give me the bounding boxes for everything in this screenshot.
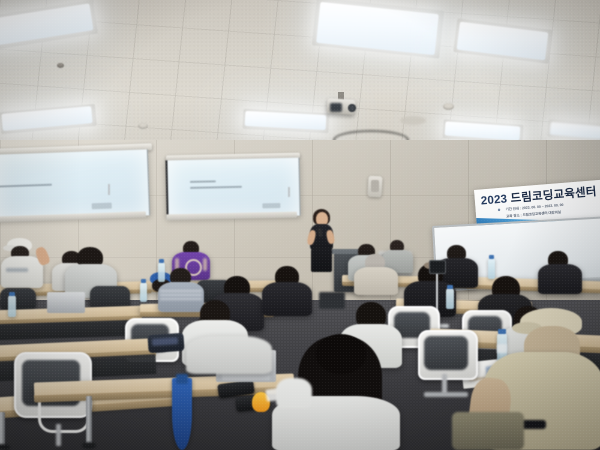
- bottle-cap: [498, 329, 506, 334]
- slide-logo: [92, 203, 112, 210]
- slide-text-line: [190, 180, 216, 183]
- water-bottle: [158, 262, 165, 282]
- shirt-stripes: [160, 288, 202, 300]
- screen-pull-cord: [288, 187, 290, 197]
- air-vent-icon: [400, 116, 426, 125]
- person-torso: [262, 282, 312, 316]
- projection-screen-left: [0, 149, 150, 220]
- banner-year: 2023: [480, 193, 507, 207]
- water-bottle: [488, 258, 495, 279]
- desk-foot: [0, 444, 10, 450]
- chair-post: [56, 424, 61, 446]
- phone-on-tripod: [429, 260, 446, 274]
- banner-bullet-mark: ※: [498, 208, 501, 212]
- slide-logo: [262, 203, 280, 208]
- person-torso: [1, 256, 43, 288]
- smoke-detector-icon: [443, 103, 454, 110]
- bottle-cap: [159, 259, 164, 263]
- person-torso: [354, 267, 398, 295]
- laptop-screen[interactable]: [319, 292, 345, 309]
- laptop-lid[interactable]: [47, 292, 85, 313]
- speaker-grille: [371, 180, 379, 192]
- umbrella-handle: [176, 374, 188, 384]
- chair-mesh: [424, 336, 468, 370]
- foreground-person-head: [316, 334, 366, 374]
- projector-lens-icon: [348, 104, 356, 112]
- shirt-graphic-right: [203, 258, 207, 271]
- classroom-photo: 2023 드림코딩교육센터 1기 ※ 기간 안내 : 2023. 00. 00 …: [0, 0, 600, 450]
- slide-text-line: [0, 184, 52, 188]
- water-bottle: [446, 288, 454, 309]
- chair-post: [442, 374, 447, 394]
- smoke-detector-icon: [57, 63, 64, 68]
- projection-screen-right: [165, 158, 300, 219]
- foreground-person-back: [186, 336, 272, 374]
- bottle-label: [497, 344, 507, 353]
- presenter-skirt: [311, 247, 332, 272]
- slide-text-line: [190, 186, 242, 189]
- desk-foot: [82, 442, 96, 449]
- bottle-cap: [489, 255, 494, 259]
- bottle-cap: [9, 292, 15, 296]
- foreground-person-shoulder: [276, 378, 312, 408]
- water-bottle: [140, 282, 147, 302]
- projector-body-detail: [330, 103, 342, 112]
- screen-pull-cord: [108, 184, 110, 195]
- chair-back[interactable]: [0, 288, 36, 310]
- tshirt-print: [6, 268, 28, 272]
- chair-armrest[interactable]: [38, 400, 90, 433]
- chair-base: [424, 392, 468, 397]
- bottle-cap: [447, 285, 453, 289]
- smoke-detector-icon: [138, 123, 148, 129]
- person-leg: [452, 412, 524, 450]
- bottle-cap: [141, 279, 146, 283]
- water-bottle: [8, 295, 16, 317]
- person-torso: [538, 264, 582, 294]
- desk-leg: [86, 396, 92, 446]
- blue-umbrella[interactable]: [172, 378, 192, 450]
